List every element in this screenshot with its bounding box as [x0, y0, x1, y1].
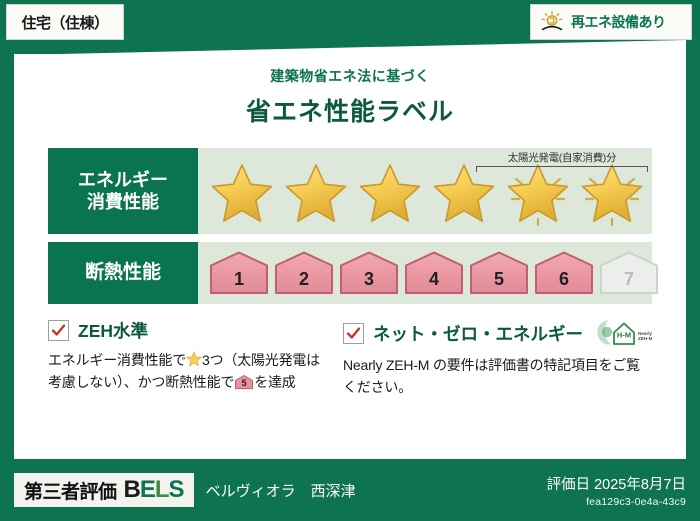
insulation-level-active: 3: [338, 250, 400, 296]
insulation-level-active: 5: [468, 250, 530, 296]
property-name: ベルヴィオラ 西深津: [206, 480, 356, 501]
svg-text:ZEH-M: ZEH-M: [638, 336, 652, 341]
category-tag-text: 住宅（住棟）: [21, 12, 108, 33]
checkbox-checked-icon: [343, 323, 364, 344]
insulation-performance-label: 断熱性能: [48, 242, 198, 304]
star-icon-inline: [186, 351, 202, 367]
energy-performance-label: エネルギー 消費性能: [48, 148, 198, 234]
zeh-standard-head: ZEH水準: [48, 318, 325, 343]
net-zero-energy-body: Nearly ZEH-M の要件は評価書の特記項目をご覧ください。: [343, 355, 652, 398]
category-tag: 住宅（住棟）: [6, 4, 124, 40]
bels-mark: BELS: [124, 478, 184, 502]
insulation-level-inactive: 7: [598, 250, 660, 296]
sun-icon: [539, 10, 565, 34]
footer-meta: 評価日 2025年8月7日 fea129c3-0e4a-43c9: [547, 473, 686, 508]
solar-annotation-text: 太陽光発電(自家消費)分: [476, 150, 648, 165]
solar-annotation: 太陽光発電(自家消費)分: [476, 150, 648, 172]
insulation-level-active: 6: [533, 250, 595, 296]
solar-bracket: [476, 166, 648, 172]
insulation-level-active: 2: [273, 250, 335, 296]
renewable-energy-badge: 再エネ設備あり: [530, 4, 692, 40]
insulation-label-text: 断熱性能: [85, 261, 161, 285]
energy-label-line1: エネルギー: [78, 169, 168, 192]
evaluation-date: 評価日 2025年8月7日: [547, 473, 686, 494]
zeh-standard-body: エネルギー消費性能で3つ（太陽光発電は考慮しない）、かつ断熱性能で5を達成: [48, 350, 325, 393]
svg-text:H-M: H-M: [617, 331, 631, 340]
energy-performance-label: 住宅（住棟） 再エネ設備あり 建築物省エネ法に基: [0, 0, 700, 521]
title-subtitle: 建築物省エネ法に基づく: [32, 66, 668, 86]
zeh-body-part1: エネルギー消費性能で: [48, 352, 186, 368]
renewable-badge-label: 再エネ設備あり: [571, 12, 666, 32]
zeh-standard-title: ZEH水準: [78, 318, 148, 343]
insulation-level-scale: 1 2: [208, 250, 660, 296]
star-icon-filled: [280, 159, 352, 229]
zeh-body-part3: を達成: [254, 374, 295, 390]
info-columns: ZEH水準 エネルギー消費性能で3つ（太陽光発電は考慮しない）、かつ断熱性能で5…: [48, 318, 652, 398]
insulation-level-active: 1: [208, 250, 270, 296]
net-zero-energy-head: ネット・ゼロ・エネルギー H-M Nearly ZEH-M: [343, 318, 652, 348]
insulation-performance-body: 1 2: [198, 242, 660, 304]
bels-badge: 第三者評価 BELS: [14, 473, 194, 507]
page-title: 省エネ性能ラベル: [32, 92, 668, 128]
main-panel: 建築物省エネ法に基づく 省エネ性能ラベル エネルギー 消費性能: [14, 40, 686, 459]
house-icon-inline: 5: [234, 374, 254, 390]
star-icon-filled: [354, 159, 426, 229]
energy-performance-body: 太陽光発電(自家消費)分: [198, 148, 652, 234]
insulation-level-active: 4: [403, 250, 465, 296]
evaluation-id: fea129c3-0e4a-43c9: [547, 496, 686, 508]
footer: 第三者評価 BELS ベルヴィオラ 西深津 評価日 2025年8月7日 fea1…: [0, 459, 700, 521]
energy-performance-row: エネルギー 消費性能: [48, 148, 652, 234]
nearly-zeh-m-logo-icon: H-M Nearly ZEH-M: [594, 318, 652, 348]
title-block: 建築物省エネ法に基づく 省エネ性能ラベル: [32, 40, 668, 128]
checkbox-checked-icon: [48, 320, 69, 341]
zeh-standard-block: ZEH水準 エネルギー消費性能で3つ（太陽光発電は考慮しない）、かつ断熱性能で5…: [48, 318, 325, 398]
energy-label-line2: 消費性能: [87, 191, 159, 214]
insulation-performance-row: 断熱性能 1: [48, 242, 652, 304]
bels-label: 第三者評価: [24, 477, 117, 504]
star-icon-filled: [206, 159, 278, 229]
svg-text:5: 5: [242, 378, 247, 388]
net-zero-energy-block: ネット・ゼロ・エネルギー H-M Nearly ZEH-M: [343, 318, 652, 398]
net-zero-energy-title: ネット・ゼロ・エネルギー: [373, 321, 583, 346]
